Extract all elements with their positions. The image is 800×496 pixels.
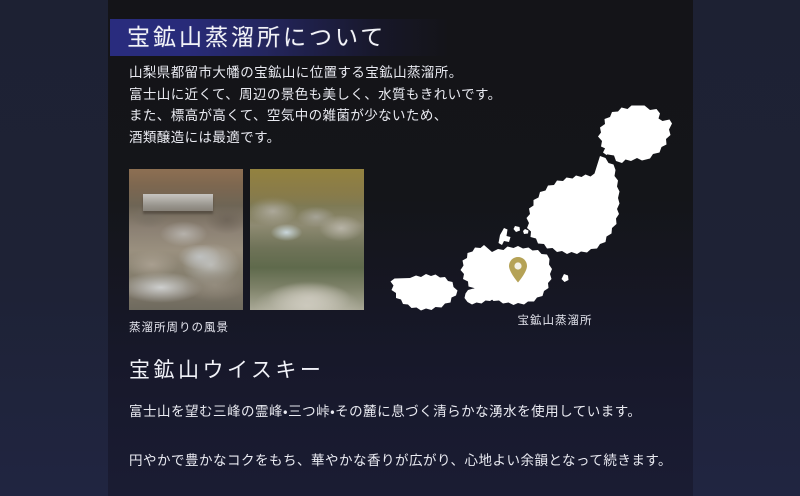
distillery-stream-weir-photo bbox=[129, 169, 243, 310]
photo-caption: 蒸溜所周りの風景 bbox=[129, 319, 364, 335]
whisky-paragraph-taste: 円やかで豊かなコクをもち、華やかな香りが広がり、心地よい余韻となって続きます。 bbox=[129, 449, 672, 469]
whisky-paragraph-water: 富士山を望む三峰の霊峰・三つ峠・その麓に息づく清らかな湧水を使用しています。 bbox=[129, 400, 641, 420]
distillery-rocky-stream-photo bbox=[250, 169, 364, 310]
photo-list bbox=[129, 169, 364, 310]
map-location-label: 宝鉱山蒸溜所 bbox=[372, 312, 672, 328]
photo-gallery: 蒸溜所周りの風景 bbox=[129, 169, 364, 335]
page-root: 宝鉱山蒸溜所について 山梨県都留市大幡の宝鉱山に位置する宝鉱山蒸溜所。 富士山に… bbox=[0, 0, 800, 496]
section-heading-banner: 宝鉱山蒸溜所について bbox=[110, 19, 450, 56]
japan-map: 宝鉱山蒸溜所 bbox=[372, 100, 672, 325]
map-pin-icon bbox=[507, 256, 529, 284]
page-title: 宝鉱山蒸溜所について bbox=[110, 26, 386, 49]
whisky-section-title: 宝鉱山ウイスキー bbox=[129, 360, 324, 381]
intro-line: 山梨県都留市大幡の宝鉱山に位置する宝鉱山蒸溜所。 bbox=[129, 62, 549, 84]
